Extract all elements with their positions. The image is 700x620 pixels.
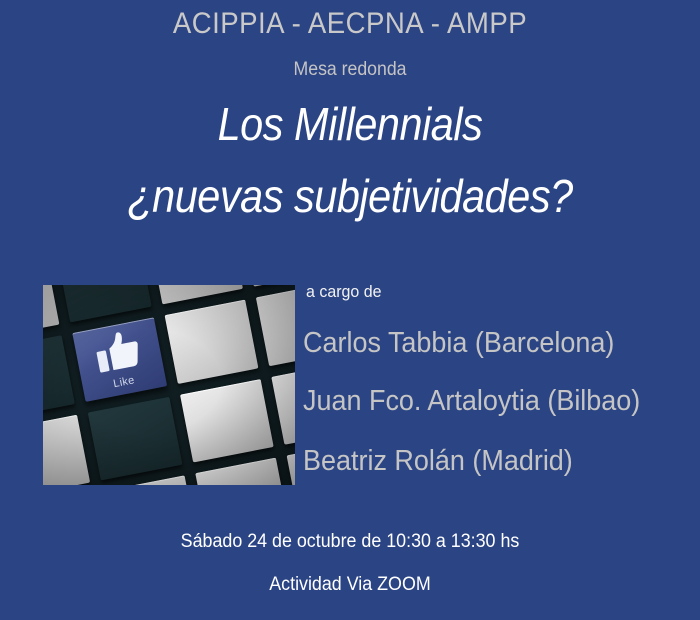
keyboard-key [43, 335, 75, 419]
presenter-name: Beatriz Rolán (Madrid) [303, 444, 573, 478]
keyboard-tilt-wrapper: Like [43, 285, 295, 485]
event-datetime: Sábado 24 de octubre de 10:30 a 13:30 hs [21, 530, 679, 554]
presenter-name: Carlos Tabbia (Barcelona) [303, 326, 614, 360]
like-key: Like [73, 317, 167, 401]
keyboard-key-grid: Like [43, 285, 295, 485]
event-type-label: Mesa redonda [25, 58, 676, 82]
keyboard-key [149, 285, 243, 304]
facebook-like-key-photo: Like [43, 285, 295, 485]
presenters-intro-label: a cargo de [306, 281, 382, 303]
page-title-line-2: ¿nuevas subjetividades? [35, 170, 665, 222]
thumbs-up-icon [91, 326, 144, 376]
keyboard-key [43, 285, 60, 340]
keyboard-key [271, 361, 295, 445]
keyboard-key [88, 396, 182, 480]
event-poster: ACIPPIA - AECPNA - AMPP Mesa redonda Los… [0, 0, 700, 620]
presenter-name: Juan Fco. Artaloytia (Bilbao) [303, 384, 640, 418]
like-key-label: Like [112, 374, 135, 390]
keyboard-key [286, 440, 295, 485]
keyboard-key [164, 299, 258, 383]
page-title-line-1: Los Millennials [35, 98, 665, 150]
keyboard-key [240, 285, 295, 286]
keyboard-key [195, 458, 289, 485]
keyboard-key [57, 285, 151, 322]
event-platform: Actividad Via ZOOM [21, 573, 679, 597]
organizations-line: ACIPPIA - AECPNA - AMPP [28, 6, 672, 42]
keyboard-key [43, 414, 90, 485]
keyboard-key [179, 379, 273, 463]
keyboard-key [256, 285, 295, 366]
